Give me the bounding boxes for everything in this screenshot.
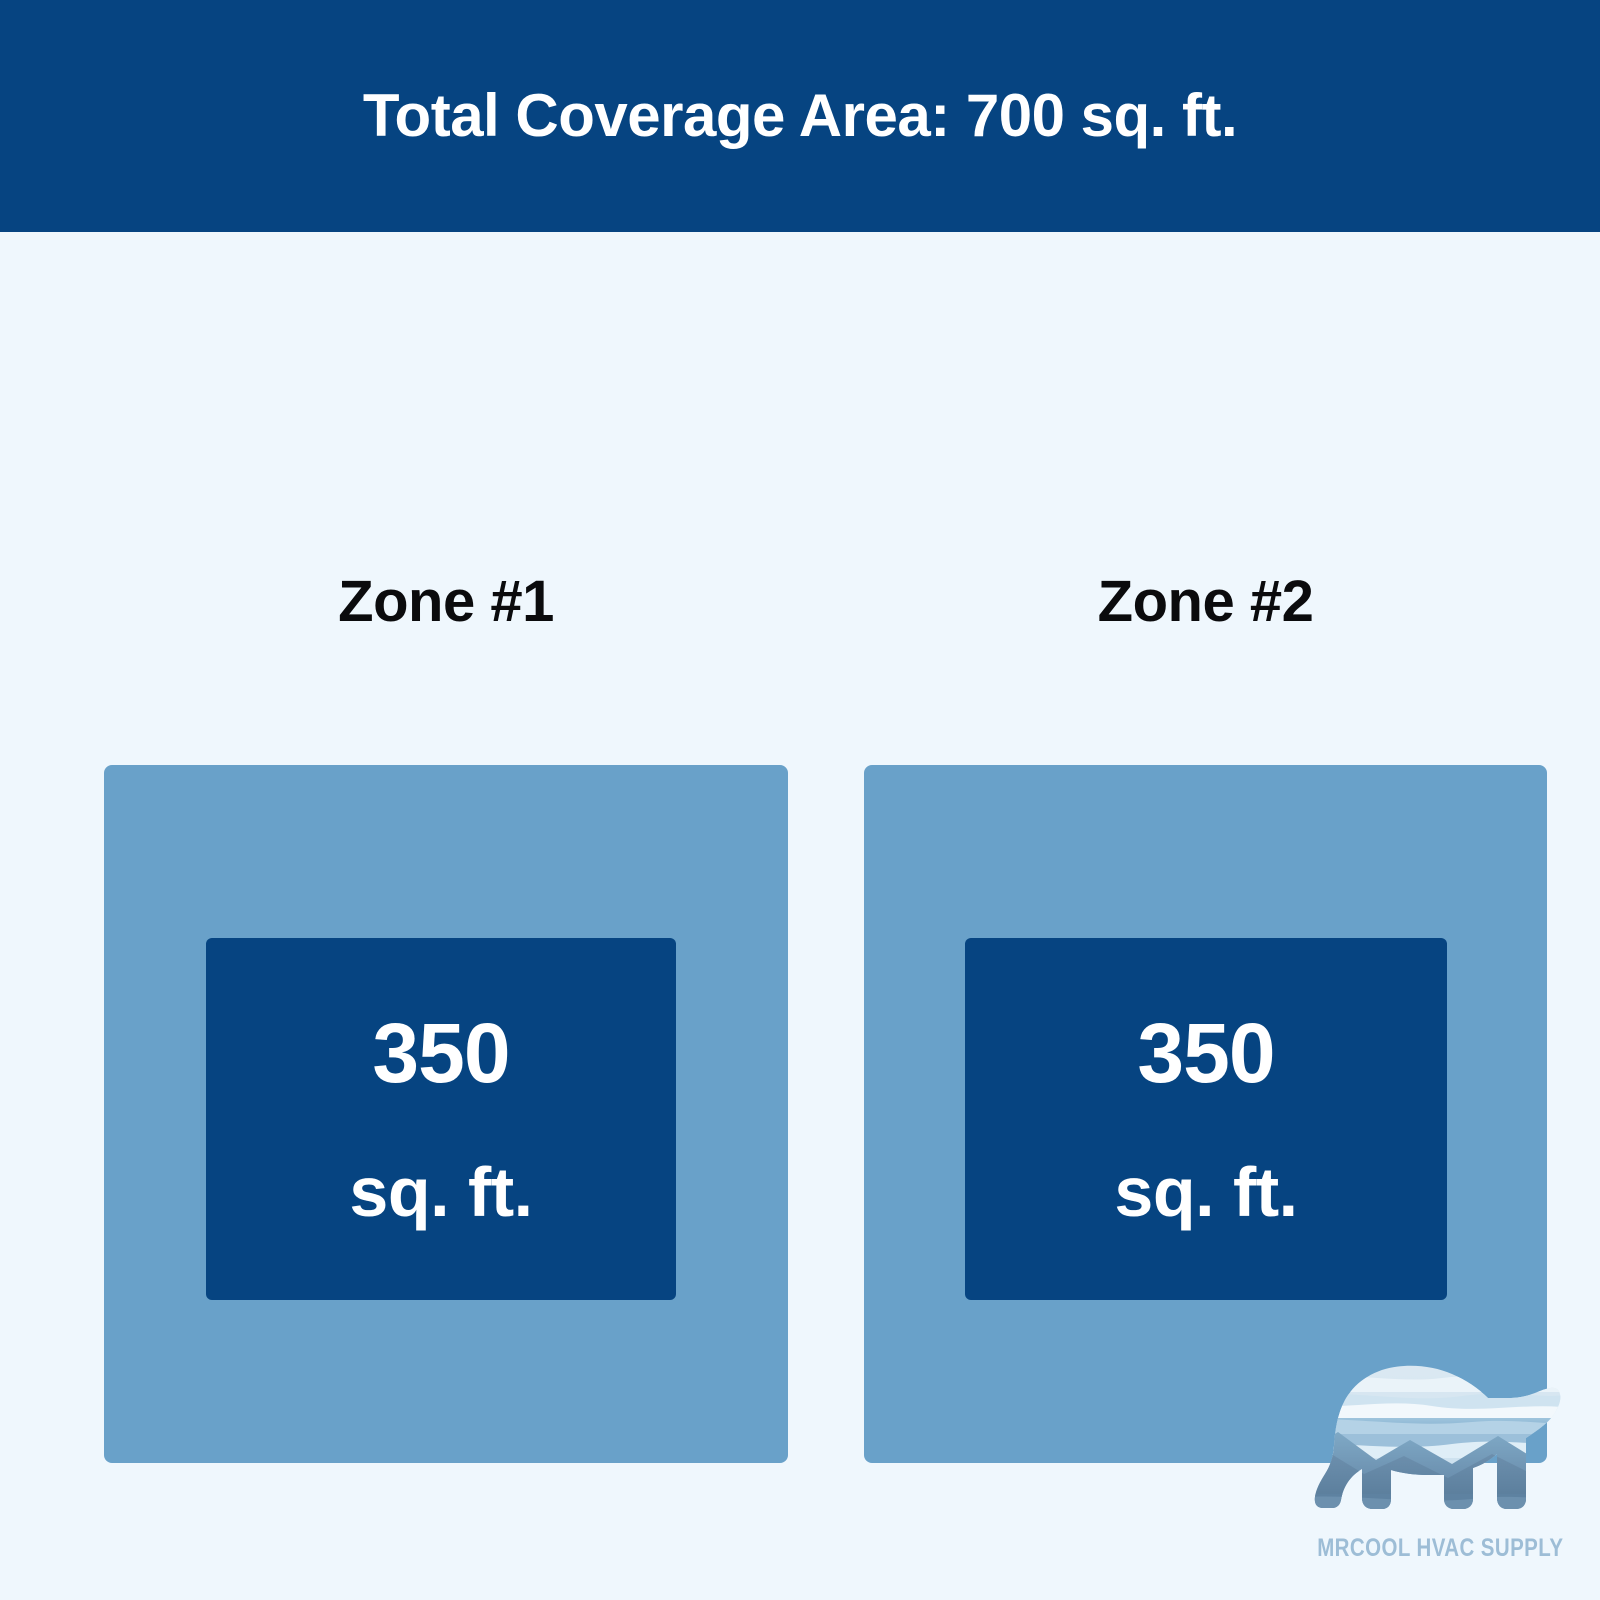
bear-landscape-fill (1292, 1358, 1572, 1534)
header-banner: Total Coverage Area: 700 sq. ft. (0, 0, 1600, 232)
zone-card-2: Zone #2 350 sq. ft. (864, 573, 1547, 1463)
brand-wordmark: MRCOOL HVAC SUPPLY (1317, 1536, 1547, 1561)
zone-unit-1: sq. ft. (349, 1157, 532, 1227)
zone-label-2: Zone #2 (864, 573, 1547, 653)
zone-inner-area-2: 350 sq. ft. (965, 938, 1447, 1300)
zone-value-2: 350 (1137, 1011, 1274, 1095)
brand-logo: MRCOOL HVAC SUPPLY (1292, 1358, 1572, 1580)
zone-card-1: Zone #1 350 sq. ft. (104, 573, 788, 1463)
zone-outer-area-1: 350 sq. ft. (104, 765, 788, 1463)
zone-label-1: Zone #1 (104, 573, 788, 653)
page-title: Total Coverage Area: 700 sq. ft. (363, 86, 1237, 146)
polar-bear-icon (1292, 1358, 1572, 1534)
zone-inner-area-1: 350 sq. ft. (206, 938, 676, 1300)
zone-unit-2: sq. ft. (1114, 1157, 1297, 1227)
zone-value-1: 350 (372, 1011, 509, 1095)
